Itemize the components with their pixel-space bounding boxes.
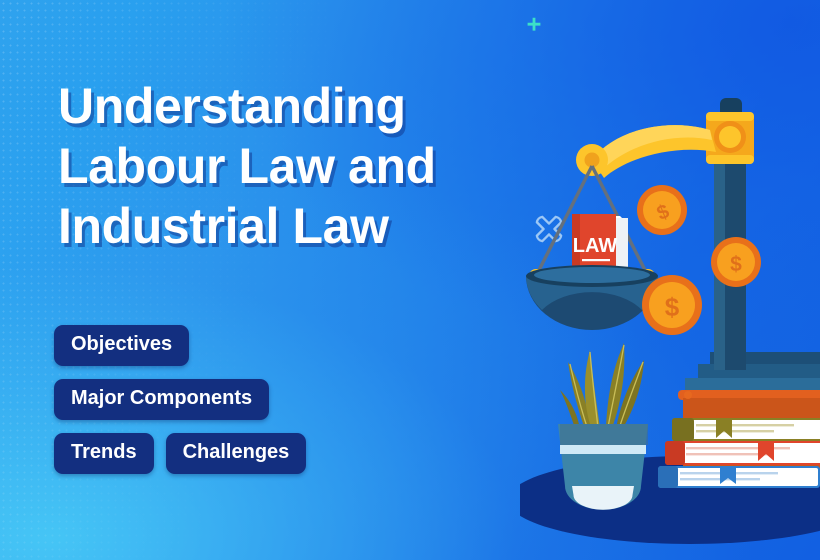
coin-top: $ [637, 185, 687, 235]
tag-row-3: Trends Challenges [54, 433, 474, 474]
scale-beam [576, 125, 716, 178]
coin-bottom-symbol: $ [665, 292, 680, 322]
title-line-2: Labour Law and [58, 136, 528, 196]
book-blue [658, 466, 820, 488]
page-title: Understanding Labour Law and Industrial … [58, 76, 528, 256]
plant-pot [558, 424, 648, 510]
book-olive [672, 418, 820, 441]
law-scales-illustration: LAW $ $ $ [520, 0, 820, 560]
tag-objectives[interactable]: Objectives [54, 325, 189, 366]
plant-leaves [560, 343, 644, 432]
tag-row-2: Major Components [54, 379, 474, 420]
tag-list: Objectives Major Components Trends Chall… [54, 325, 474, 487]
book-stack [658, 418, 820, 488]
title-line-3: Industrial Law [58, 196, 528, 256]
tag-challenges[interactable]: Challenges [166, 433, 307, 474]
potted-plant [558, 343, 648, 510]
scale-pan: LAW [526, 214, 658, 330]
coin-right: $ [711, 237, 761, 287]
title-line-1: Understanding [58, 76, 528, 136]
scale-collar [706, 112, 754, 164]
law-book-label: LAW [573, 235, 618, 257]
tag-trends[interactable]: Trends [54, 433, 154, 474]
slide-canvas: Understanding Labour Law and Industrial … [0, 0, 820, 560]
coin-bottom: $ [642, 275, 702, 335]
coin-right-symbol: $ [730, 253, 742, 276]
tag-row-1: Objectives [54, 325, 474, 366]
tag-major-components[interactable]: Major Components [54, 379, 269, 420]
book-red [665, 441, 820, 465]
